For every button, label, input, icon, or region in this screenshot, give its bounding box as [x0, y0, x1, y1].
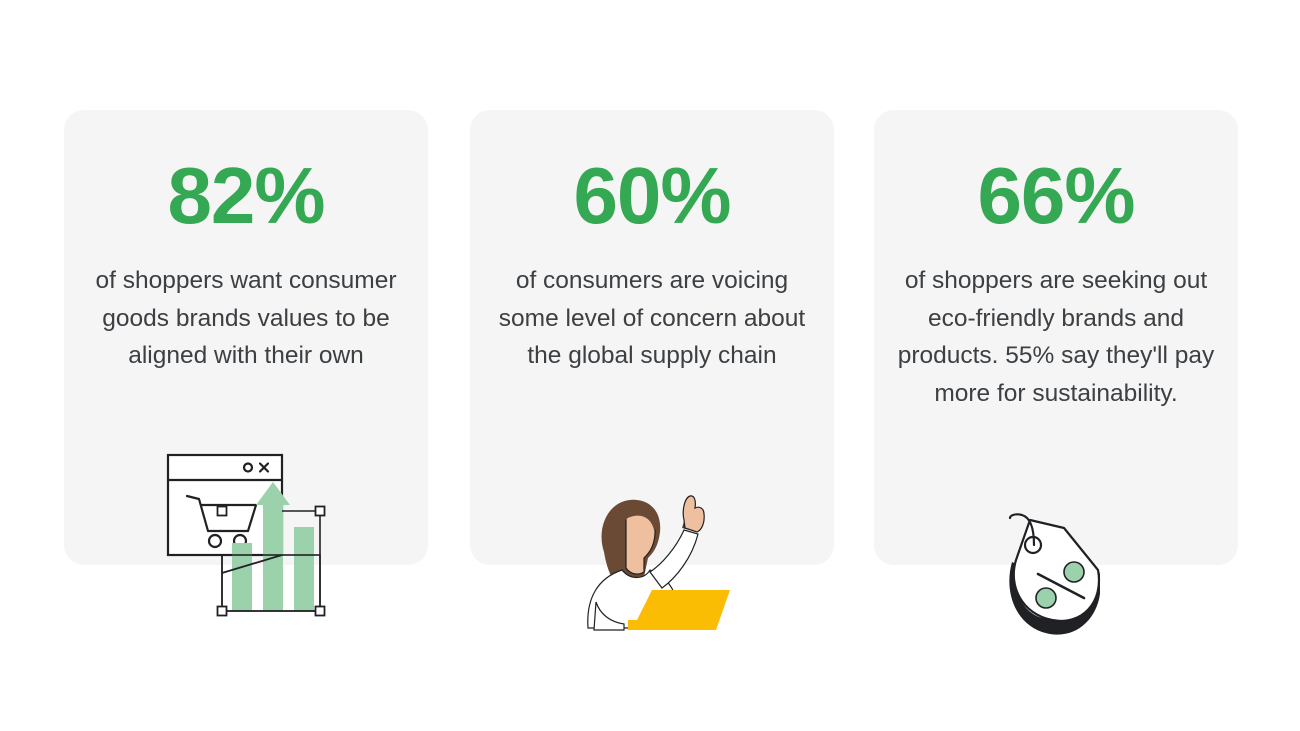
stat-number: 60%: [470, 156, 834, 236]
stat-number: 82%: [64, 156, 428, 236]
stat-description: of shoppers are seeking out eco-friendly…: [894, 262, 1218, 412]
stat-cards-page: 82% of shoppers want consumer goods bran…: [0, 0, 1300, 731]
stat-card-eco-friendly-seeking-shoppers: 66% of shoppers are seeking out eco-frie…: [874, 110, 1238, 565]
stat-number: 66%: [874, 156, 1238, 236]
woman-at-laptop-illustration: [566, 492, 738, 632]
online-shopping-growth-chart-illustration: [160, 448, 340, 624]
discount-price-tag-illustration: [1002, 498, 1118, 642]
stat-description: of consumers are voicing some level of c…: [490, 262, 814, 375]
stat-description: of shoppers want consumer goods brands v…: [84, 262, 408, 375]
